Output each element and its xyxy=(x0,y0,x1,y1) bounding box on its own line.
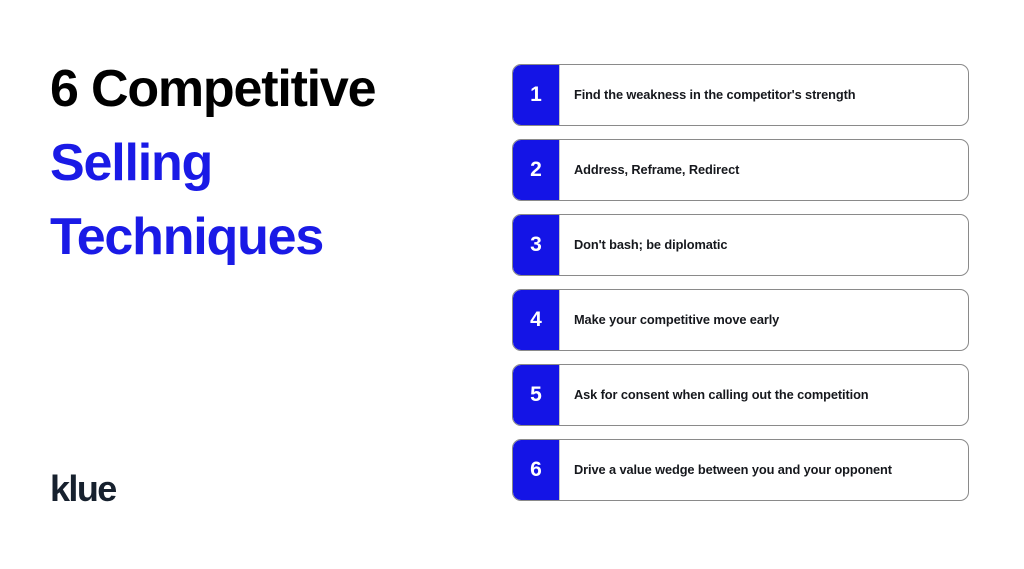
list-item[interactable]: 6 Drive a value wedge between you and yo… xyxy=(512,439,969,501)
list-item-number: 4 xyxy=(513,290,559,350)
techniques-list: 1 Find the weakness in the competitor's … xyxy=(512,64,969,501)
list-item-label: Address, Reframe, Redirect xyxy=(574,162,739,178)
list-item-body: Ask for consent when calling out the com… xyxy=(559,365,968,425)
page-title: 6 Competitive Selling Techniques xyxy=(50,52,470,274)
list-item[interactable]: 4 Make your competitive move early xyxy=(512,289,969,351)
list-item-label: Find the weakness in the competitor's st… xyxy=(574,87,855,103)
list-item-label: Make your competitive move early xyxy=(574,312,779,328)
list-item-number: 6 xyxy=(513,440,559,500)
list-item[interactable]: 2 Address, Reframe, Redirect xyxy=(512,139,969,201)
list-item-number: 3 xyxy=(513,215,559,275)
list-item-body: Don't bash; be diplomatic xyxy=(559,215,968,275)
list-item-body: Drive a value wedge between you and your… xyxy=(559,440,968,500)
list-item-label: Drive a value wedge between you and your… xyxy=(574,462,892,478)
headline-block: 6 Competitive Selling Techniques xyxy=(50,52,470,274)
list-item[interactable]: 5 Ask for consent when calling out the c… xyxy=(512,364,969,426)
list-item[interactable]: 1 Find the weakness in the competitor's … xyxy=(512,64,969,126)
list-item-body: Address, Reframe, Redirect xyxy=(559,140,968,200)
list-item-number: 5 xyxy=(513,365,559,425)
list-item[interactable]: 3 Don't bash; be diplomatic xyxy=(512,214,969,276)
list-item-number: 1 xyxy=(513,65,559,125)
headline-line-1: 6 Competitive xyxy=(50,52,470,126)
slide-canvas: 6 Competitive Selling Techniques klue 1 … xyxy=(0,0,1024,569)
klue-logo: klue xyxy=(50,469,116,509)
headline-line-2: Selling xyxy=(50,126,470,200)
list-item-body: Find the weakness in the competitor's st… xyxy=(559,65,968,125)
headline-line-3: Techniques xyxy=(50,200,470,274)
list-item-label: Don't bash; be diplomatic xyxy=(574,237,727,253)
list-item-label: Ask for consent when calling out the com… xyxy=(574,387,869,403)
list-item-number: 2 xyxy=(513,140,559,200)
list-item-body: Make your competitive move early xyxy=(559,290,968,350)
